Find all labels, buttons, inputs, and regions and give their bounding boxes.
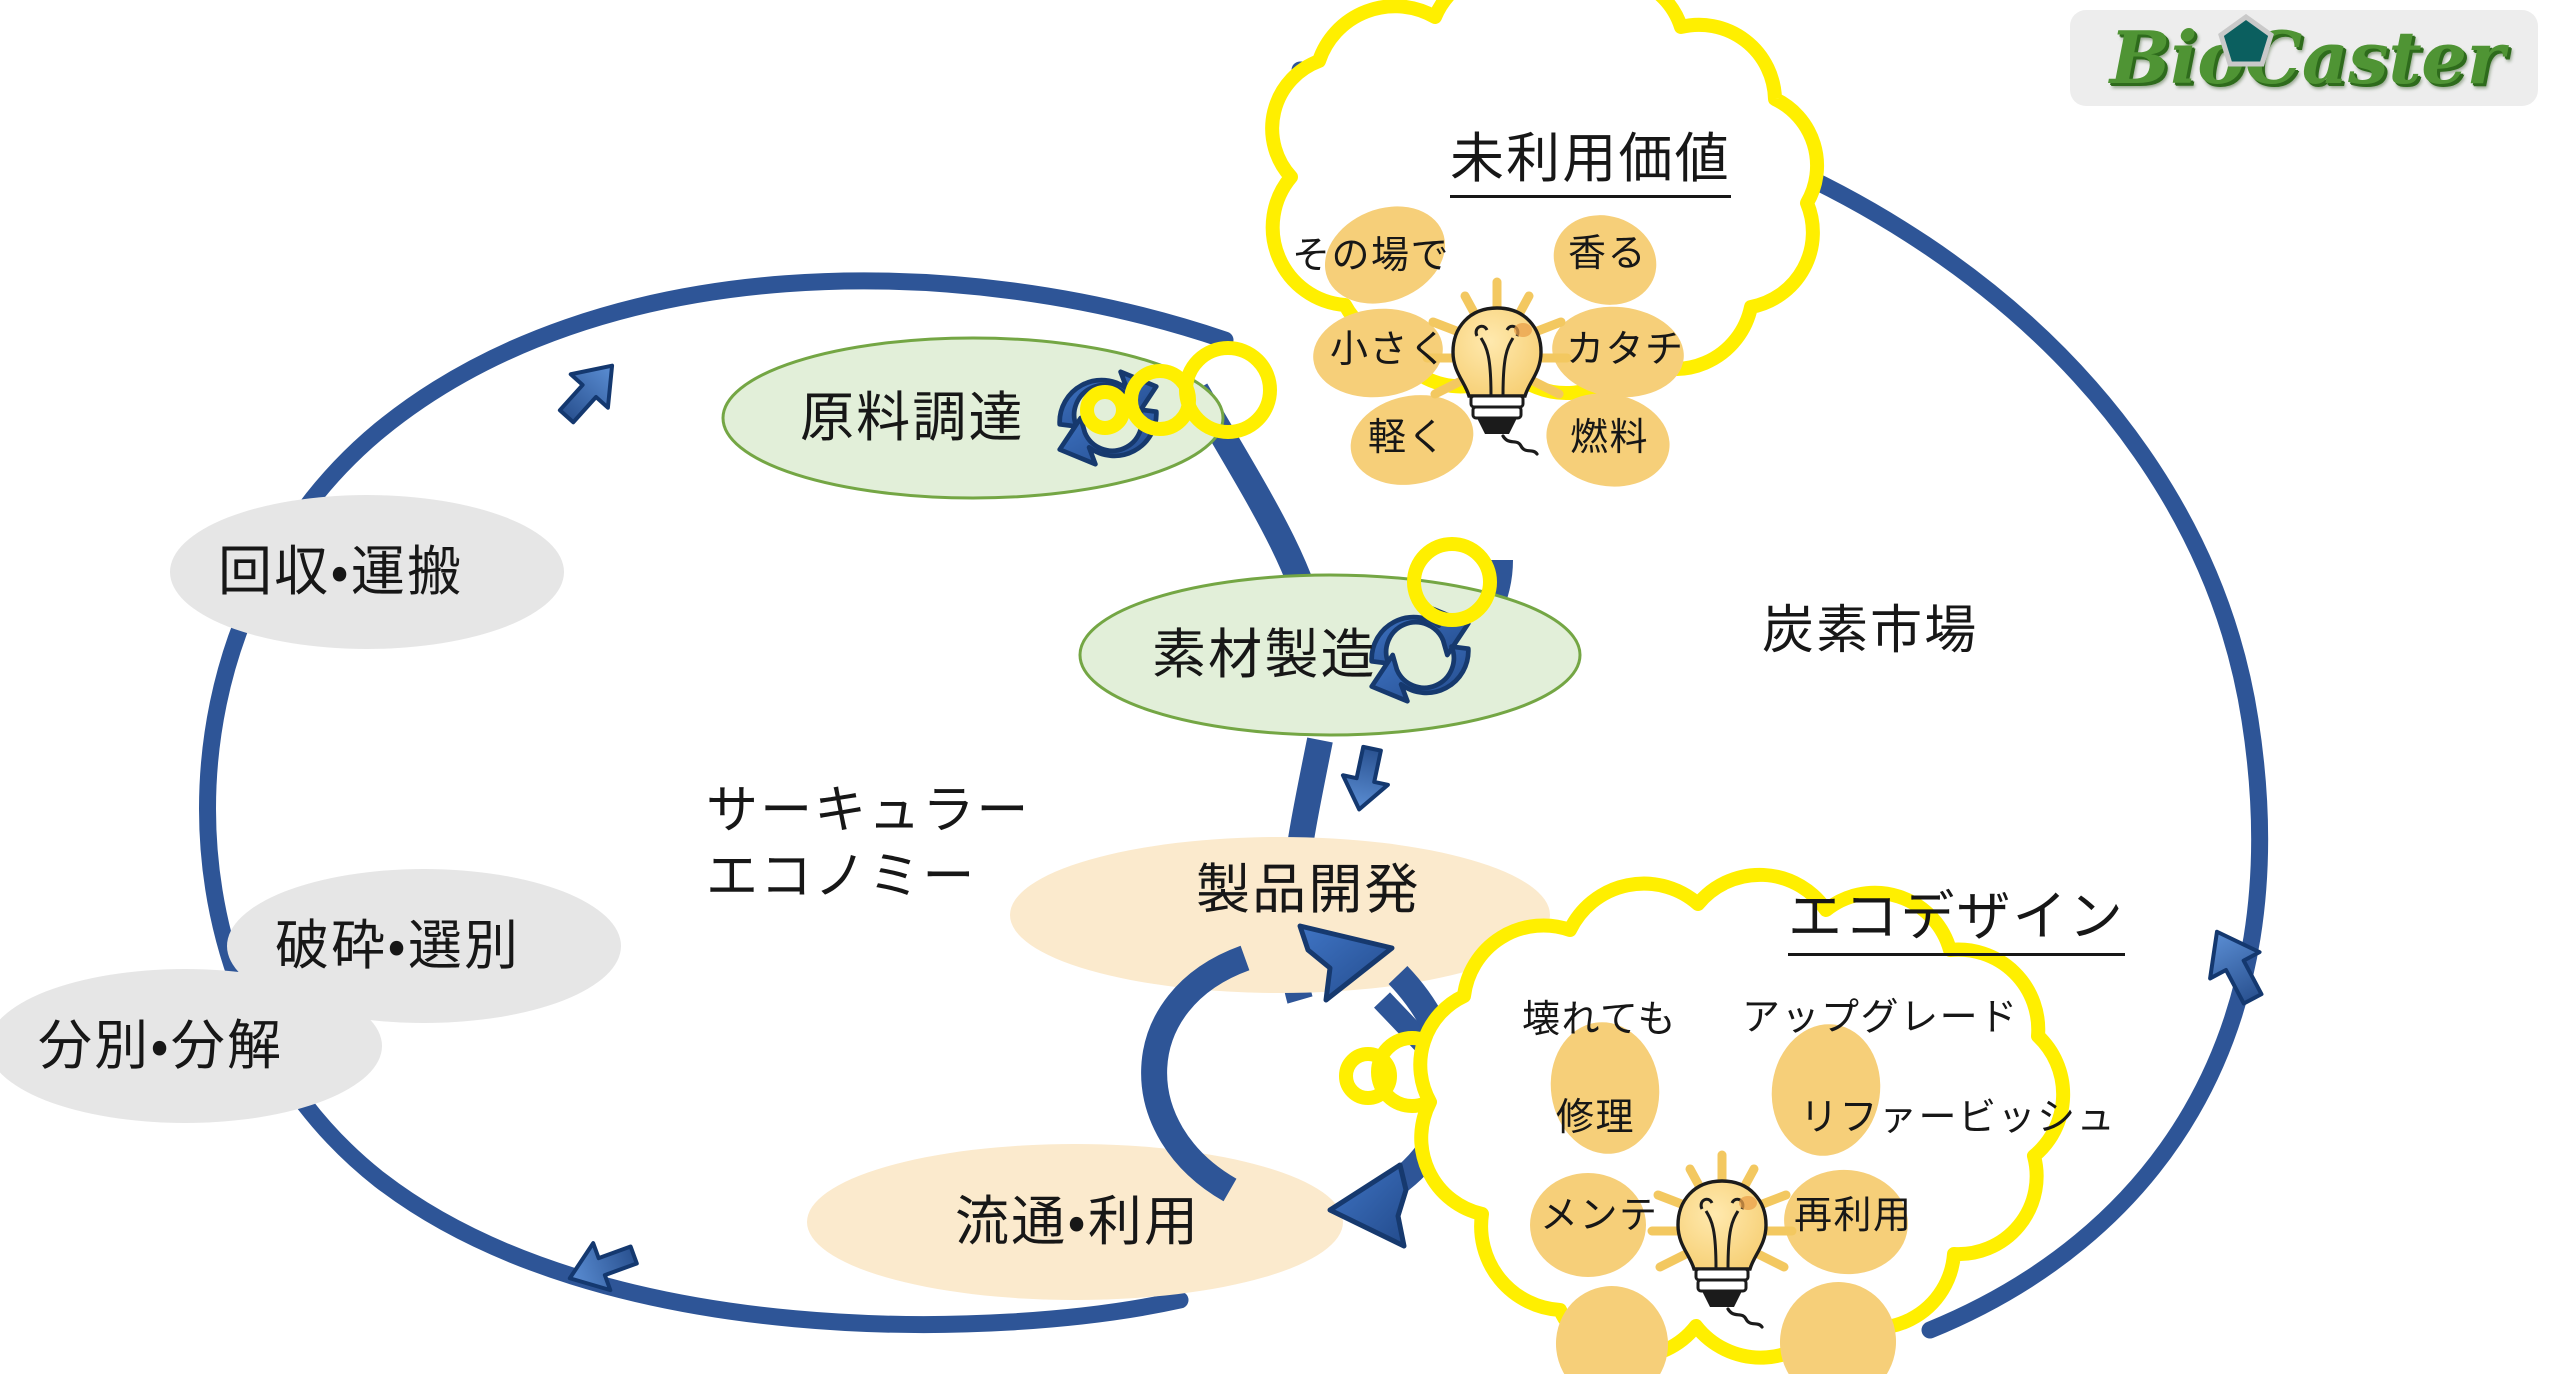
node-label-collection-transport: 回収・運搬: [218, 542, 463, 602]
blob-label-on-site: その場で: [1292, 236, 1450, 278]
blob-label-fragrant: 香る: [1568, 234, 1647, 276]
pentagon-icon: [2218, 14, 2274, 70]
blob-label-reuse: 再利用: [1794, 1196, 1913, 1238]
node-label-material-procurement: 原料調達: [800, 388, 1025, 448]
arrow-down-icon: [1337, 744, 1395, 814]
blob-label-smaller: 小さく: [1330, 330, 1449, 372]
biocaster-logo[interactable]: BioCaster: [2070, 10, 2538, 106]
blob-label-shape: カタチ: [1566, 330, 1685, 372]
unused-value-cloud-shape: [1087, 0, 1817, 620]
blob-label-lighter: 軽く: [1368, 418, 1447, 460]
diagram-canvas: 回収・運搬 破砕・選別 分別・分解 原料調達 素材製造 製品開発 流通・利用 サ…: [0, 0, 2560, 1374]
arrow-up-left-top-icon: [548, 349, 631, 433]
node-label-material-manufacture: 素材製造: [1152, 625, 1377, 685]
node-label-distribution-use: 流通・利用: [955, 1192, 1200, 1252]
biocaster-wordmark: BioCaster: [2104, 22, 2504, 94]
diagram-graphics: [0, 0, 2560, 1374]
cloud-title-eco-design: エコデザイン: [1788, 888, 2125, 956]
label-circular-economy-line1: サーキュラー: [706, 778, 1030, 845]
node-label-product-development: 製品開発: [1196, 860, 1421, 920]
blob-label-repair: 修理: [1556, 1098, 1635, 1140]
blob-label-fuel: 燃料: [1570, 418, 1649, 460]
label-circular-economy-line2: エコノミー: [706, 844, 976, 911]
cloud-title-unused-value: 未利用価値: [1450, 130, 1731, 198]
node-label-crushing-sorting: 破砕・選別: [275, 916, 520, 976]
blob-label-maintenance: メンテ: [1540, 1196, 1659, 1238]
blob-label-even-if-broken: 壊れても: [1522, 1000, 1677, 1042]
label-carbon-market: 炭素市場: [1762, 598, 1978, 665]
blob-label-upgrade: アップグレード: [1742, 998, 2019, 1040]
node-label-separation-decomp: 分別・分解: [38, 1016, 283, 1076]
blob-label-refurbish: リファービッシュ: [1800, 1098, 2116, 1140]
